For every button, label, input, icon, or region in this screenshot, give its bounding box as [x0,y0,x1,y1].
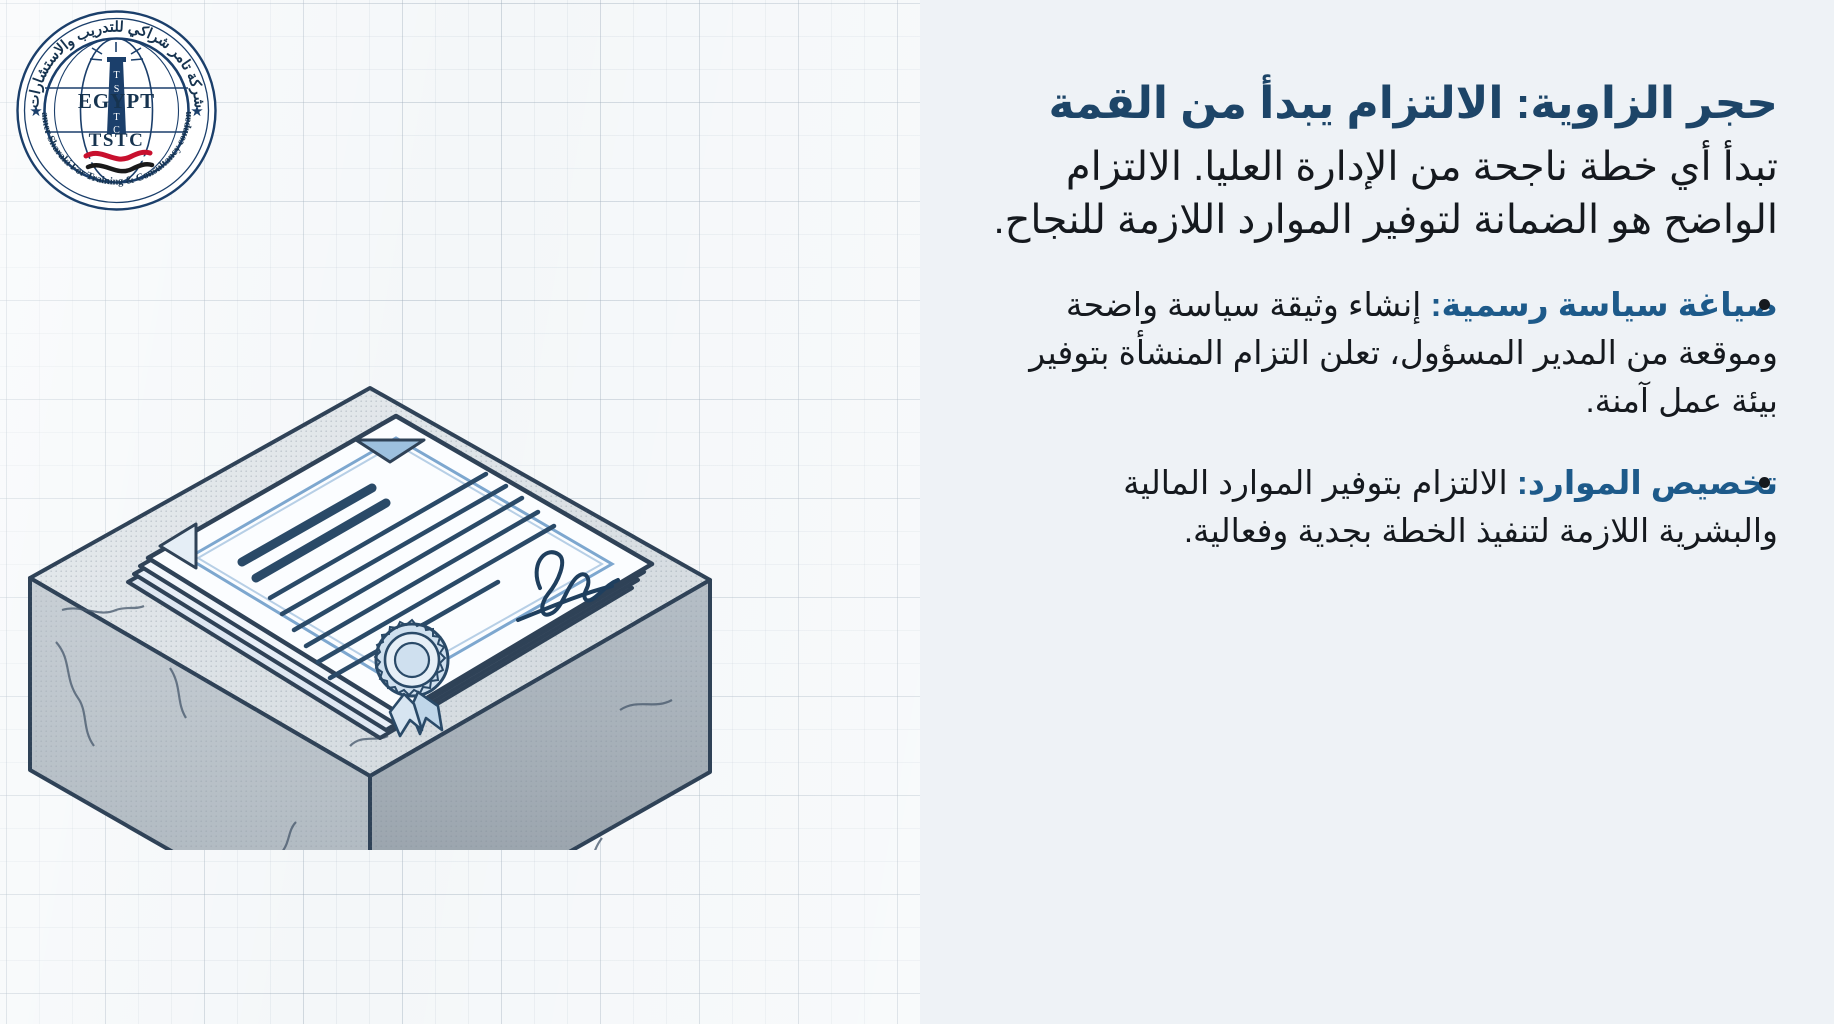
logo-tower-letter-t: T [113,70,119,81]
logo-country-text: EGYPT [78,89,155,113]
logo-emblem-icon: T S T C EGYPT TSTC ★ ★ شركة تامر شراكي ل… [14,8,219,213]
logo-tower-letter-t2: T [113,112,119,123]
intro-paragraph: تبدأ أي خطة ناجحة من الإدارة العليا. الا… [964,141,1778,247]
list-item: صياغة سياسة رسمية: إنشاء وثيقة سياسة واض… [964,281,1778,425]
bullet-term: صياغة سياسة رسمية: [1431,286,1778,323]
bullet-list: صياغة سياسة رسمية: إنشاء وثيقة سياسة واض… [964,281,1778,554]
text-content-column: حجر الزاوية: الالتزام يبدأ من القمة تبدأ… [920,0,1834,1024]
page-title: حجر الزاوية: الالتزام يبدأ من القمة [964,78,1778,129]
logo-acronym-text: TSTC [89,130,145,151]
slide-root: T S T C EGYPT TSTC ★ ★ شركة تامر شراكي ل… [0,0,1834,1024]
cornerstone-document-icon [20,190,750,850]
bullet-term: تخصيص الموارد: [1517,464,1778,501]
bullet-dot-icon [1759,477,1770,488]
company-logo: T S T C EGYPT TSTC ★ ★ شركة تامر شراكي ل… [14,8,219,213]
list-item: تخصيص الموارد: الالتزام بتوفير الموارد ا… [964,459,1778,555]
cornerstone-illustration [20,190,750,850]
